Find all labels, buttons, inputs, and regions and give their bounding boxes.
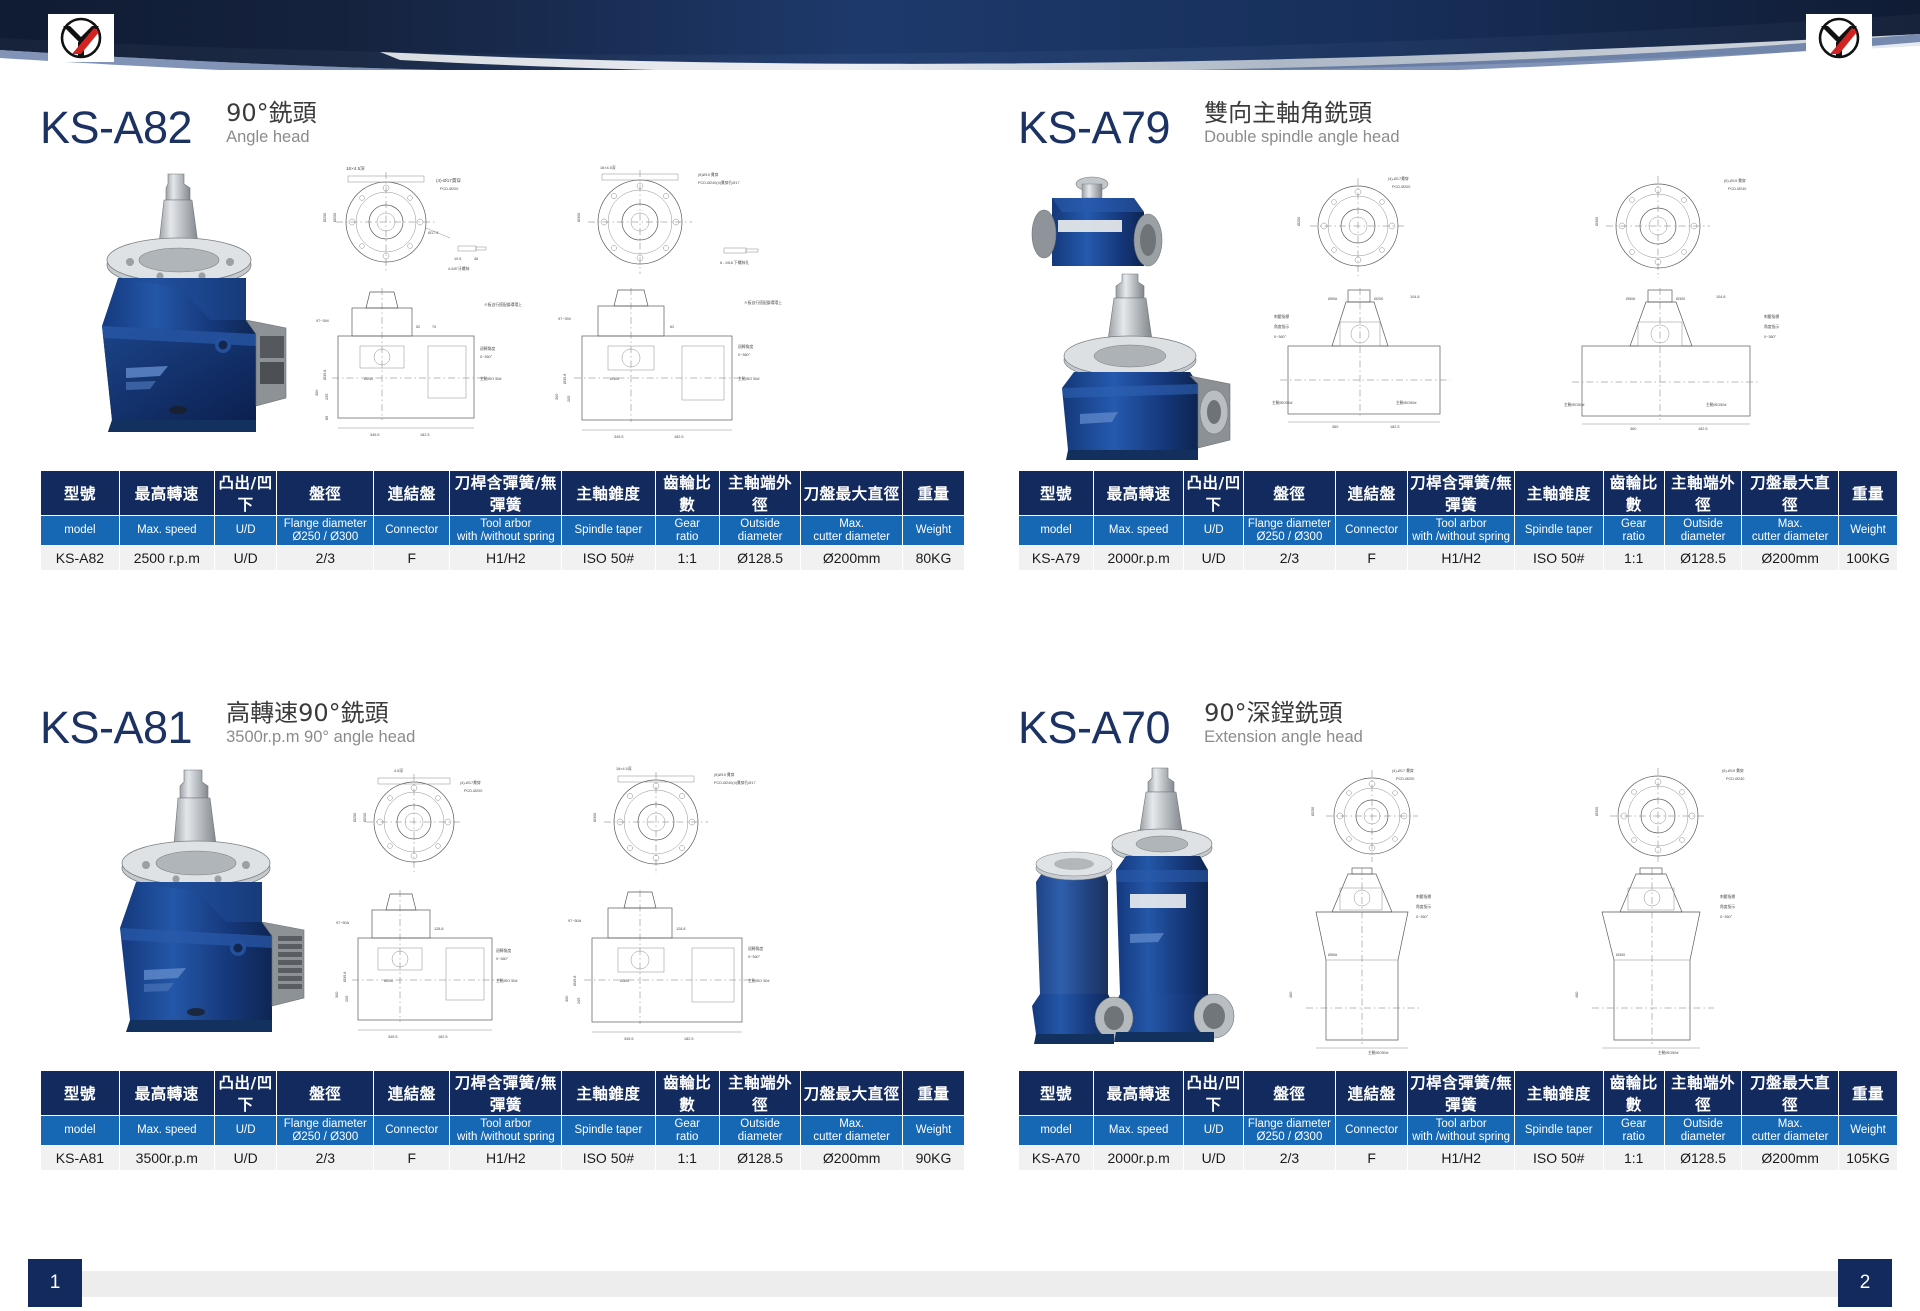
th-en-arbor: Tool arborwith /without spring — [450, 1116, 562, 1146]
svg-text:迴轉角度: 迴轉角度 — [748, 946, 763, 951]
svg-text:Ø39.8: Ø39.8 — [563, 374, 567, 384]
th-en-weight: Weight — [1839, 1116, 1898, 1146]
th-en-model: model — [1019, 1116, 1094, 1146]
th-en-flange: Flange diameterØ250 / Ø300 — [277, 1116, 374, 1146]
th-en-taper: Spindle taper — [562, 1116, 655, 1146]
svg-text:主軸ISO50#: 主軸ISO50# — [1396, 400, 1417, 405]
td-model: KS-A79 — [1019, 546, 1094, 571]
svg-text:PCD.Ø200: PCD.Ø200 — [464, 789, 482, 793]
th-en-gear-l1: Gear — [674, 1118, 700, 1130]
td-speed: 2000r.p.m — [1093, 1146, 1183, 1171]
svg-text:52: 52 — [416, 325, 420, 329]
th-en-conn: Connector — [374, 1116, 450, 1146]
spec-header-cn: 型號 最高轉速 凸出/凹下 盤徑 連結盤 刀桿含彈簧/無彈簧 主軸錐度 齒輪比數… — [1019, 1071, 1898, 1116]
technical-drawing-side: 16×4.5深 (6)Ø19 貫穿 PCD.Ø240(4)貫穿孔Ø17 Ø300… — [560, 760, 970, 1060]
svg-text:0~360°: 0~360° — [1764, 335, 1777, 339]
td-speed: 2500 r.p.m — [119, 546, 214, 571]
th-en-weight-l1: Weight — [1850, 1124, 1886, 1136]
th-cn-od: 主軸端外徑 — [1664, 471, 1741, 516]
product-title-en: Angle head — [226, 128, 317, 148]
th-en-gear-l1: Gear — [674, 518, 700, 530]
svg-text:主軸ISO50#: 主軸ISO50# — [1272, 400, 1293, 405]
th-cn-cutter: 刀盤最大直徑 — [801, 1071, 903, 1116]
svg-text:0~360°: 0~360° — [738, 353, 751, 357]
th-cn-model: 型號 — [1019, 1071, 1094, 1116]
svg-text:Ø200: Ø200 — [1374, 297, 1383, 301]
th-cn-gear: 齒輪比數 — [1603, 471, 1664, 516]
product-title-row: KS-A70 90°深鏜銑頭 Extension angle head — [1018, 688, 1898, 750]
svg-text:205: 205 — [577, 998, 581, 1004]
th-en-gear-l1: Gear — [1621, 1118, 1647, 1130]
svg-text:16×4.5深: 16×4.5深 — [616, 766, 632, 771]
svg-text:主軸ISO 50#: 主軸ISO 50# — [738, 376, 760, 381]
th-en-flange-l1: Flange diameter — [1248, 1118, 1331, 1130]
svg-text:4-5/8"牙螺絲: 4-5/8"牙螺絲 — [448, 266, 470, 271]
svg-text:(4)-Ø17貫穿: (4)-Ø17貫穿 — [460, 780, 481, 785]
svg-text:128.8: 128.8 — [676, 927, 686, 931]
th-en-model: model — [1019, 516, 1094, 546]
svg-text:(6)Ø19 貫穿: (6)Ø19 貫穿 — [698, 172, 719, 177]
svg-text:300: 300 — [335, 992, 339, 998]
svg-text:205: 205 — [345, 996, 349, 1002]
svg-text:※板自行搭配鎖環環上: ※板自行搭配鎖環環上 — [484, 302, 522, 307]
th-en-ud: U/D — [1184, 516, 1244, 546]
td-weight: 80KG — [903, 546, 965, 571]
th-cn-arbor: 刀桿含彈簧/無彈簧 — [1408, 1071, 1514, 1116]
spec-table-ks-a81: 型號 最高轉速 凸出/凹下 盤徑 連結盤 刀桿含彈簧/無彈簧 主軸錐度 齒輪比數… — [40, 1070, 965, 1171]
th-cn-flange: 盤徑 — [1243, 1071, 1335, 1116]
svg-text:182.5: 182.5 — [420, 433, 430, 437]
svg-text:345.5: 345.5 — [624, 1037, 634, 1041]
td-ud: U/D — [214, 546, 277, 571]
svg-text:85: 85 — [325, 416, 329, 420]
th-en-flange-l2: Ø250 / Ø300 — [292, 531, 358, 543]
th-en-ud-l1: U/D — [236, 1124, 256, 1136]
th-en-conn-l1: Connector — [385, 1124, 438, 1136]
svg-text:460: 460 — [1289, 992, 1293, 998]
company-logo — [1806, 14, 1872, 62]
svg-text:PCD.Ø240(4)貫穿孔Ø17: PCD.Ø240(4)貫穿孔Ø17 — [714, 780, 756, 785]
th-en-weight: Weight — [903, 516, 965, 546]
th-en-ud-l1: U/D — [1204, 524, 1224, 536]
th-cn-ud: 凸出/凹下 — [214, 471, 277, 516]
page-number-right: 2 — [1838, 1259, 1892, 1307]
product-title-cn: 雙向主軸角銑頭 — [1204, 100, 1399, 127]
svg-text:16×4.5深: 16×4.5深 — [346, 165, 365, 172]
td-taper: ISO 50# — [1514, 546, 1603, 571]
th-en-od: Outsidediameter — [719, 516, 800, 546]
spec-table-ks-a70: 型號 最高轉速 凸出/凹下 盤徑 連結盤 刀桿含彈簧/無彈簧 主軸錐度 齒輪比數… — [1018, 1070, 1898, 1171]
svg-text:PCD.Ø200: PCD.Ø200 — [1392, 185, 1410, 189]
th-en-taper: Spindle taper — [1514, 1116, 1603, 1146]
svg-text:主軸ISO 50#: 主軸ISO 50# — [480, 376, 502, 381]
th-en-model-l1: model — [64, 524, 95, 536]
th-en-weight-l1: Weight — [916, 1124, 952, 1136]
product-block-ks-a82: KS-A82 90°銑頭 Angle head — [40, 88, 965, 571]
spec-header-en: model Max. speed U/D Flange diameterØ250… — [41, 516, 965, 546]
svg-text:Ø39.8: Ø39.8 — [343, 972, 347, 982]
svg-text:182.5: 182.5 — [684, 1037, 694, 1041]
td-od: Ø128.5 — [719, 546, 800, 571]
th-en-gear: Gearratio — [655, 1116, 719, 1146]
td-gear: 1:1 — [655, 546, 719, 571]
th-en-weight-l1: Weight — [916, 524, 952, 536]
th-en-arbor: Tool arborwith /without spring — [450, 516, 562, 546]
page-footer: 1 2 — [0, 1255, 1920, 1311]
svg-text:迴轉角度: 迴轉角度 — [738, 344, 753, 349]
svg-text:(4)-Ø17 貫穿: (4)-Ø17 貫穿 — [1392, 768, 1414, 773]
th-en-ud: U/D — [214, 1116, 277, 1146]
th-en-flange-l2: Ø250 / Ø300 — [1257, 1131, 1323, 1143]
th-cn-taper: 主軸錐度 — [1514, 471, 1603, 516]
th-en-cutter-l2: cutter diameter — [813, 1131, 890, 1143]
th-en-arbor-l2: with /without spring — [1412, 1131, 1510, 1143]
svg-text:Ø300: Ø300 — [1676, 297, 1685, 301]
th-en-od-l1: Outside — [740, 1118, 780, 1130]
th-en-arbor-l2: with /without spring — [457, 531, 555, 543]
svg-text:PCD.Ø200: PCD.Ø200 — [1396, 777, 1414, 781]
svg-text:182.5: 182.5 — [1390, 425, 1400, 429]
th-cn-speed: 最高轉速 — [1093, 471, 1183, 516]
th-en-cutter-l2: cutter diameter — [813, 531, 890, 543]
spec-row-values: KS-A70 2000r.p.m U/D 2/3 F H1/H2 ISO 50#… — [1019, 1146, 1898, 1171]
th-en-taper-l1: Spindle taper — [575, 524, 643, 536]
td-flange: 2/3 — [277, 546, 374, 571]
svg-text:104.8: 104.8 — [1410, 295, 1420, 299]
td-taper: ISO 50# — [562, 1146, 655, 1171]
th-en-flange: Flange diameterØ250 / Ø300 — [1243, 1116, 1335, 1146]
svg-text:刺壓指標: 刺壓指標 — [1274, 314, 1289, 319]
td-ud: U/D — [1184, 1146, 1244, 1171]
th-cn-taper: 主軸錐度 — [562, 471, 655, 516]
svg-text:360: 360 — [1332, 425, 1338, 429]
th-en-flange-l2: Ø250 / Ø300 — [1257, 531, 1323, 543]
th-en-speed: Max. speed — [119, 516, 214, 546]
th-cn-arbor: 刀桿含彈簧/無彈簧 — [450, 1071, 562, 1116]
spec-header-en: model Max. speed U/D Flange diameterØ250… — [1019, 516, 1898, 546]
th-en-cutter-l1: Max. — [839, 1118, 864, 1130]
td-od: Ø128.5 — [1664, 1146, 1741, 1171]
technical-drawing-side: 16×4.5深 (6)Ø19 貫穿 PCD.Ø240(4)貫穿孔Ø17 Ø300… — [548, 160, 968, 460]
td-conn: F — [1335, 1146, 1408, 1171]
product-media-a82: 16×4.5深 (4)-Ø17貫穿 PCD.Ø200 Ø250 Ø200 10.… — [40, 160, 965, 470]
th-en-conn: Connector — [374, 516, 450, 546]
th-en-model-l1: model — [1040, 1124, 1071, 1136]
td-weight: 100KG — [1839, 546, 1898, 571]
svg-text:16×4.5深: 16×4.5深 — [600, 165, 616, 170]
header-decoration — [0, 0, 1920, 78]
svg-text:0~360°: 0~360° — [1274, 335, 1287, 339]
th-en-speed-l1: Max. speed — [1109, 524, 1168, 536]
th-en-model: model — [41, 516, 120, 546]
th-en-cutter: Max.cutter diameter — [1742, 1116, 1839, 1146]
th-en-gear-l1: Gear — [1621, 518, 1647, 530]
td-conn: F — [374, 1146, 450, 1171]
th-en-ud-l1: U/D — [236, 524, 256, 536]
th-en-cutter: Max.cutter diameter — [801, 516, 903, 546]
th-cn-conn: 連結盤 — [1335, 1071, 1408, 1116]
svg-text:(6)-Ø19 貫穿: (6)-Ø19 貫穿 — [1724, 178, 1746, 183]
spec-row-values: KS-A79 2000r.p.m U/D 2/3 F H1/H2 ISO 50#… — [1019, 546, 1898, 571]
th-en-model: model — [41, 1116, 120, 1146]
product-title-row: KS-A82 90°銑頭 Angle head — [40, 88, 965, 150]
svg-text:角度指示: 角度指示 — [1720, 904, 1735, 909]
th-en-od-l2: diameter — [738, 1131, 783, 1143]
footer-bar — [62, 1271, 1858, 1297]
th-en-gear: Gearratio — [1603, 516, 1664, 546]
svg-text:迴轉角度: 迴轉角度 — [496, 948, 511, 953]
svg-text:Ø250: Ø250 — [323, 213, 327, 222]
th-en-cutter-l2: cutter diameter — [1752, 531, 1829, 543]
th-en-od: Outsidediameter — [1664, 1116, 1741, 1146]
svg-text:4.5深: 4.5深 — [394, 768, 403, 773]
svg-text:6 - M18 下螺絲孔: 6 - M18 下螺絲孔 — [720, 260, 749, 265]
product-photo — [60, 170, 290, 470]
svg-text:182.5: 182.5 — [674, 435, 684, 439]
product-block-ks-a81: KS-A81 高轉速90°銑頭 3500r.p.m 90° angle head — [40, 688, 965, 1171]
th-cn-weight: 重量 — [903, 1071, 965, 1116]
svg-text:PCD.Ø240: PCD.Ø240 — [1726, 777, 1744, 781]
td-model: KS-A70 — [1019, 1146, 1094, 1171]
th-cn-ud: 凸出/凹下 — [1184, 1071, 1244, 1116]
svg-text:Ø39.8: Ø39.8 — [573, 976, 577, 986]
product-title-en: 3500r.p.m 90° angle head — [226, 728, 415, 748]
td-conn: F — [1335, 546, 1408, 571]
svg-text:PCD.Ø200: PCD.Ø200 — [440, 187, 458, 191]
svg-text:205: 205 — [325, 394, 329, 400]
svg-text:Ø250: Ø250 — [1297, 217, 1301, 226]
th-en-flange-l1: Flange diameter — [284, 1118, 367, 1130]
td-gear: 1:1 — [1603, 1146, 1664, 1171]
td-arbor: H1/H2 — [450, 546, 562, 571]
product-code: KS-A79 — [1018, 105, 1170, 150]
th-en-weight: Weight — [903, 1116, 965, 1146]
th-en-cutter-l1: Max. — [839, 518, 864, 530]
th-en-ud: U/D — [1184, 1116, 1244, 1146]
th-cn-model: 型號 — [41, 471, 120, 516]
th-cn-arbor: 刀桿含彈簧/無彈簧 — [450, 471, 562, 516]
svg-text:Ø250: Ø250 — [364, 377, 373, 381]
svg-text:10.5: 10.5 — [454, 257, 461, 261]
td-taper: ISO 50# — [1514, 1146, 1603, 1171]
svg-text:182.5: 182.5 — [1698, 427, 1708, 431]
th-en-gear: Gearratio — [1603, 1116, 1664, 1146]
svg-text:主軸ISO50#: 主軸ISO50# — [1564, 402, 1585, 407]
td-model: KS-A82 — [41, 546, 120, 571]
th-en-flange-l2: Ø250 / Ø300 — [292, 1131, 358, 1143]
product-title-en: Extension angle head — [1204, 728, 1363, 748]
td-gear: 1:1 — [1603, 546, 1664, 571]
td-cutter: Ø200mm — [1742, 546, 1839, 571]
product-code: KS-A81 — [40, 705, 192, 750]
spec-header-cn: 型號 最高轉速 凸出/凹下 盤徑 連結盤 刀桿含彈簧/無彈簧 主軸錐度 齒輪比數… — [1019, 471, 1898, 516]
th-en-cutter-l1: Max. — [1778, 1118, 1803, 1130]
svg-text:128.8: 128.8 — [434, 927, 444, 931]
td-cutter: Ø200mm — [801, 546, 903, 571]
svg-text:PCD.Ø240: PCD.Ø240 — [1728, 187, 1746, 191]
td-taper: ISO 50# — [562, 546, 655, 571]
th-en-conn-l1: Connector — [385, 524, 438, 536]
th-cn-cutter: 刀盤最大直徑 — [1742, 1071, 1839, 1116]
th-cn-od: 主軸端外徑 — [1664, 1071, 1741, 1116]
td-od: Ø128.5 — [1664, 546, 1741, 571]
svg-text:46: 46 — [474, 257, 478, 261]
th-cn-weight: 重量 — [1839, 471, 1898, 516]
th-en-arbor-l2: with /without spring — [457, 1131, 555, 1143]
th-en-cutter-l1: Max. — [1778, 518, 1803, 530]
svg-text:Ø300: Ø300 — [610, 377, 619, 381]
th-cn-cutter: 刀盤最大直徑 — [801, 471, 903, 516]
svg-text:Ø300: Ø300 — [1595, 217, 1599, 226]
th-en-od-l1: Outside — [1683, 518, 1723, 530]
svg-text:主軸ISO50#: 主軸ISO50# — [1706, 402, 1727, 407]
svg-text:0~360°: 0~360° — [1720, 915, 1733, 919]
svg-text:角度指示: 角度指示 — [1274, 324, 1289, 329]
technical-drawing-side: (6)-Ø19 貫穿 PCD.Ø240 Ø300 Ø50# Ø300 104.8… — [1560, 166, 1890, 462]
th-en-arbor-l2: with /without spring — [1412, 531, 1510, 543]
svg-text:角度指示: 角度指示 — [1764, 324, 1779, 329]
th-en-arbor-l1: Tool arbor — [1436, 1118, 1487, 1130]
product-media-a70: (4)-Ø17 貫穿 PCD.Ø200 Ø250 Ø50# 460 刺壓指標 — [1018, 760, 1898, 1070]
td-ud: U/D — [1184, 546, 1244, 571]
product-title-row: KS-A79 雙向主軸角銑頭 Double spindle angle head — [1018, 88, 1898, 150]
svg-text:Ø300: Ø300 — [1595, 807, 1599, 816]
th-cn-conn: 連結盤 — [374, 1071, 450, 1116]
svg-text:(4)-Ø17貫穿: (4)-Ø17貫穿 — [436, 177, 461, 184]
th-cn-conn: 連結盤 — [1335, 471, 1408, 516]
svg-text:主軸ISO50#: 主軸ISO50# — [1658, 1050, 1679, 1055]
spec-table-ks-a79: 型號 最高轉速 凸出/凹下 盤徑 連結盤 刀桿含彈簧/無彈簧 主軸錐度 齒輪比數… — [1018, 470, 1898, 571]
svg-text:刺壓指標: 刺壓指標 — [1764, 314, 1779, 319]
svg-text:Ø200: Ø200 — [333, 213, 337, 222]
th-en-flange-l1: Flange diameter — [1248, 518, 1331, 530]
svg-text:PCD.Ø240(4)貫穿孔Ø17: PCD.Ø240(4)貫穿孔Ø17 — [698, 180, 740, 185]
product-code: KS-A82 — [40, 105, 192, 150]
svg-text:※板自行搭配鎖環環上: ※板自行搭配鎖環環上 — [744, 300, 782, 305]
th-en-taper: Spindle taper — [562, 516, 655, 546]
product-block-ks-a79: KS-A79 雙向主軸角銑頭 Double spindle angle head — [1018, 88, 1898, 571]
td-flange: 2/3 — [1243, 546, 1335, 571]
svg-text:300: 300 — [555, 394, 559, 400]
td-flange: 2/3 — [277, 1146, 374, 1171]
th-en-cutter-l2: cutter diameter — [1752, 1131, 1829, 1143]
svg-text:300: 300 — [315, 390, 319, 396]
svg-text:0~360°: 0~360° — [480, 355, 493, 359]
th-en-speed: Max. speed — [119, 1116, 214, 1146]
th-en-gear-l2: ratio — [676, 1131, 698, 1143]
td-weight: 105KG — [1839, 1146, 1898, 1171]
th-en-weight-l1: Weight — [1850, 524, 1886, 536]
th-en-arbor: Tool arborwith /without spring — [1408, 516, 1514, 546]
product-title-cn: 高轉速90°銑頭 — [226, 700, 415, 727]
spec-row-values: KS-A81 3500r.p.m U/D 2/3 F H1/H2 ISO 50#… — [41, 1146, 965, 1171]
th-cn-flange: 盤徑 — [277, 1071, 374, 1116]
th-en-model-l1: model — [64, 1124, 95, 1136]
th-en-ud: U/D — [214, 516, 277, 546]
th-cn-taper: 主軸錐度 — [562, 1071, 655, 1116]
th-en-speed: Max. speed — [1093, 516, 1183, 546]
svg-text:Ø300: Ø300 — [593, 813, 597, 822]
th-en-speed-l1: Max. speed — [1109, 1124, 1168, 1136]
th-en-gear-l2: ratio — [676, 531, 698, 543]
th-cn-weight: 重量 — [903, 471, 965, 516]
svg-text:主軸ISO50#: 主軸ISO50# — [1368, 1050, 1389, 1055]
svg-text:104.8: 104.8 — [1716, 295, 1726, 299]
td-gear: 1:1 — [655, 1146, 719, 1171]
svg-text:主軸ISO 50#: 主軸ISO 50# — [748, 978, 770, 983]
th-cn-flange: 盤徑 — [1243, 471, 1335, 516]
svg-text:360: 360 — [1630, 427, 1636, 431]
svg-text:Ø50#: Ø50# — [1328, 297, 1338, 301]
th-cn-taper: 主軸錐度 — [1514, 1071, 1603, 1116]
product-media-a79: (4)-Ø17貫穿 PCD.Ø200 Ø250 Ø50# Ø200 104.8 … — [1018, 160, 1898, 470]
th-cn-model: 型號 — [41, 1071, 120, 1116]
svg-text:Ø50#: Ø50# — [1626, 297, 1636, 301]
th-cn-model: 型號 — [1019, 471, 1094, 516]
th-en-gear-l2: ratio — [1623, 531, 1645, 543]
technical-drawing-side: (6)-Ø19 貫穿 PCD.Ø240 Ø300 Ø300 460 刺壓指標 — [1558, 760, 1893, 1060]
spec-header-cn: 型號 最高轉速 凸出/凹下 盤徑 連結盤 刀桿含彈簧/無彈簧 主軸錐度 齒輪比數… — [41, 1071, 965, 1116]
th-en-ud-l1: U/D — [1204, 1124, 1224, 1136]
svg-text:0~360°: 0~360° — [1416, 915, 1429, 919]
td-cutter: Ø200mm — [801, 1146, 903, 1171]
th-cn-gear: 齒輪比數 — [655, 1071, 719, 1116]
svg-text:Ø17.5: Ø17.5 — [428, 231, 438, 235]
svg-text:97~50A: 97~50A — [568, 919, 582, 923]
svg-text:97~50A: 97~50A — [336, 921, 350, 925]
svg-text:345.5: 345.5 — [370, 433, 380, 437]
svg-text:300: 300 — [565, 996, 569, 1002]
technical-drawing-front: (4)-Ø17 貫穿 PCD.Ø200 Ø250 Ø50# 460 刺壓指標 — [1276, 760, 1576, 1060]
svg-text:97~394: 97~394 — [316, 319, 329, 323]
th-cn-speed: 最高轉速 — [119, 471, 214, 516]
spec-header-en: model Max. speed U/D Flange diameterØ250… — [1019, 1116, 1898, 1146]
svg-text:182.5: 182.5 — [438, 1035, 448, 1039]
th-cn-od: 主軸端外徑 — [719, 1071, 800, 1116]
th-en-flange: Flange diameterØ250 / Ø300 — [1243, 516, 1335, 546]
product-code: KS-A70 — [1018, 705, 1170, 750]
product-title-en: Double spindle angle head — [1204, 128, 1399, 148]
svg-text:主軸ISO 50#: 主軸ISO 50# — [496, 978, 518, 983]
spec-row-values: KS-A82 2500 r.p.m U/D 2/3 F H1/H2 ISO 50… — [41, 546, 965, 571]
svg-text:Ø300: Ø300 — [577, 213, 581, 222]
svg-text:62: 62 — [670, 325, 674, 329]
td-arbor: H1/H2 — [1408, 1146, 1514, 1171]
product-title-row: KS-A81 高轉速90°銑頭 3500r.p.m 90° angle head — [40, 688, 965, 750]
svg-text:刺壓指標: 刺壓指標 — [1720, 894, 1735, 899]
td-cutter: Ø200mm — [1742, 1146, 1839, 1171]
svg-text:70: 70 — [432, 325, 436, 329]
td-weight: 90KG — [903, 1146, 965, 1171]
td-od: Ø128.5 — [719, 1146, 800, 1171]
th-en-arbor-l1: Tool arbor — [1436, 518, 1487, 530]
th-cn-ud: 凸出/凹下 — [214, 1071, 277, 1116]
th-en-od-l2: diameter — [1681, 1131, 1726, 1143]
td-model: KS-A81 — [41, 1146, 120, 1171]
th-cn-weight: 重量 — [1839, 1071, 1898, 1116]
th-cn-flange: 盤徑 — [277, 471, 374, 516]
th-en-taper: Spindle taper — [1514, 516, 1603, 546]
svg-text:0~360°: 0~360° — [748, 955, 761, 959]
th-en-od: Outsidediameter — [1664, 516, 1741, 546]
svg-text:345.5: 345.5 — [614, 435, 624, 439]
th-en-taper-l1: Spindle taper — [575, 1124, 643, 1136]
td-speed: 3500r.p.m — [119, 1146, 214, 1171]
svg-text:Ø50#: Ø50# — [1328, 953, 1338, 957]
th-en-arbor: Tool arborwith /without spring — [1408, 1116, 1514, 1146]
th-en-speed: Max. speed — [1093, 1116, 1183, 1146]
page-number-left: 1 — [28, 1259, 82, 1307]
